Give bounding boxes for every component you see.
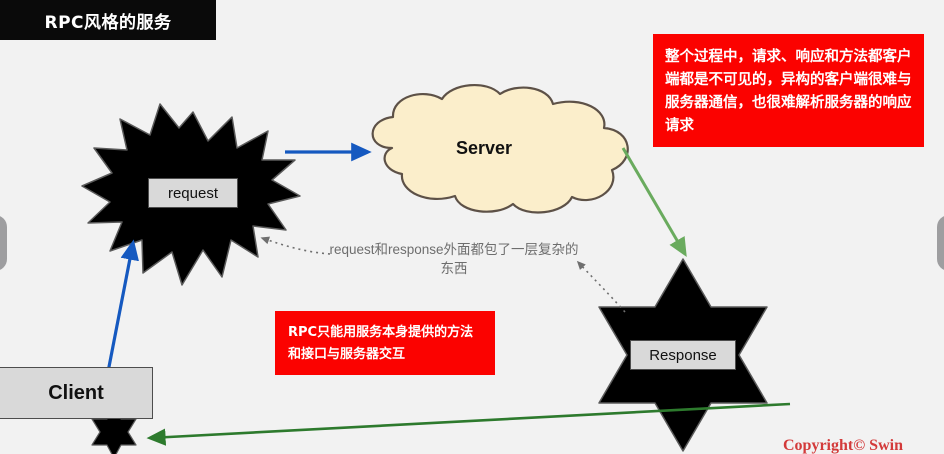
client-node-text: Client: [48, 382, 104, 405]
annotation-note: request和response外面都包了一层复杂的东西: [327, 240, 581, 278]
annotation-note-text: request和response外面都包了一层复杂的东西: [329, 242, 578, 276]
server-node-text: Server: [456, 138, 512, 158]
arrow-server-to-response: [623, 148, 685, 254]
client-node-label: Client: [0, 367, 153, 419]
carousel-next-button[interactable]: [937, 215, 944, 271]
callout-middle: RPC只能用服务本身提供的方法和接口与服务器交互: [275, 311, 495, 375]
callout-top-right-text: 整个过程中，请求、响应和方法都客户端都是不可见的，异构的客户端很难与服务器通信，…: [665, 49, 912, 134]
slide-canvas: RPC风格的服务 request Response Client Server …: [0, 0, 944, 454]
copyright-watermark-text: Copyright© Swin: [783, 437, 903, 454]
slide-title-banner: RPC风格的服务: [0, 0, 216, 40]
response-node-label: Response: [630, 340, 736, 370]
response-node-text: Response: [649, 347, 717, 364]
callout-top-right: 整个过程中，请求、响应和方法都客户端都是不可见的，异构的客户端很难与服务器通信，…: [653, 34, 924, 147]
dotted-arrow-to-response: [578, 262, 625, 312]
dotted-arrow-to-request: [262, 238, 330, 254]
page-title: RPC风格的服务: [44, 8, 171, 33]
arrow-client-to-request: [108, 243, 133, 372]
request-node-text: request: [168, 185, 218, 202]
callout-middle-text: RPC只能用服务本身提供的方法和接口与服务器交互: [288, 325, 473, 362]
server-node-label: Server: [424, 138, 544, 159]
carousel-prev-button[interactable]: [0, 215, 7, 271]
request-node-label: request: [148, 178, 238, 208]
copyright-watermark: Copyright© Swin: [783, 437, 903, 454]
